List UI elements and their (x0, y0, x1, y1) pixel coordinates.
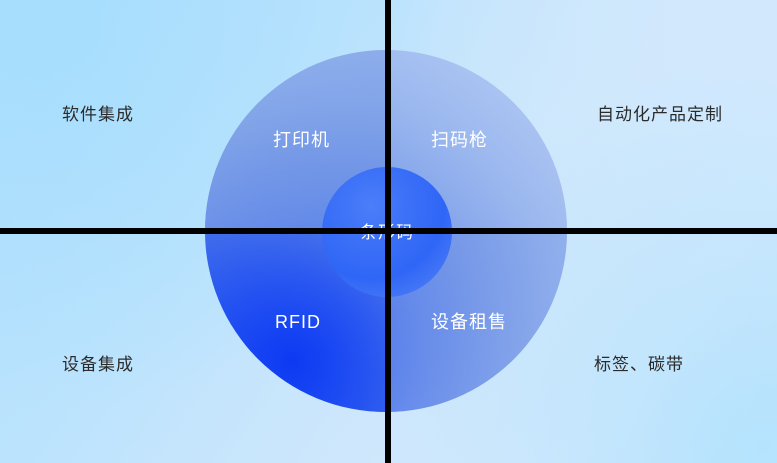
ring-node-label-rfid[interactable]: RFID (275, 313, 321, 331)
outer-label-labels-ribbons: 标签、碳带 (594, 356, 684, 373)
horizontal-axis-line (0, 228, 777, 234)
ring-node-label-scanner[interactable]: 扫码枪 (431, 131, 488, 149)
outer-label-equipment-integration: 设备集成 (62, 356, 134, 373)
outer-label-automation-customization: 自动化产品定制 (597, 106, 723, 123)
diagram-canvas: 条形码 打印机 扫码枪 RFID 设备租售 软件集成 自动化产品定制 设备集成 … (0, 0, 777, 463)
ring-node-label-printer[interactable]: 打印机 (273, 131, 330, 149)
ring-node-label-equipment-rental[interactable]: 设备租售 (431, 313, 507, 331)
outer-label-software-integration: 软件集成 (62, 106, 134, 123)
